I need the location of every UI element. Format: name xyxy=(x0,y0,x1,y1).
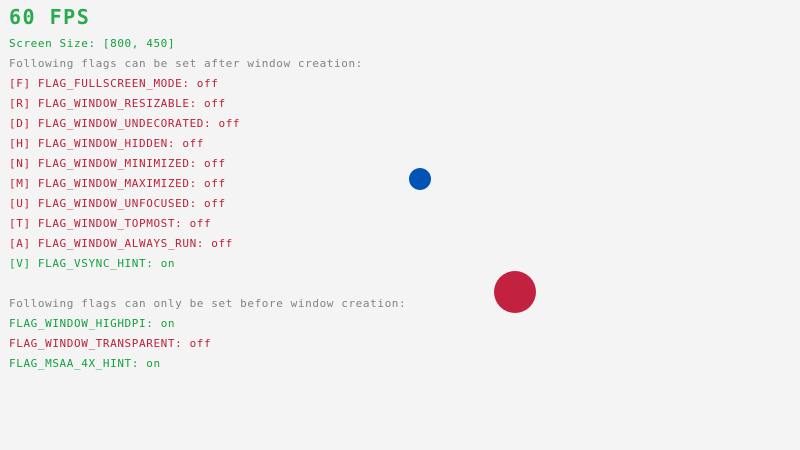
flag-name: FLAG_WINDOW_MINIMIZED: xyxy=(38,157,204,170)
section-note-1: Following flags can only be set before w… xyxy=(9,298,406,309)
flag-name: FLAG_WINDOW_UNFOCUSED: xyxy=(38,197,204,210)
section-note-0: Following flags can be set after window … xyxy=(9,58,363,69)
flag-value: off xyxy=(218,117,240,130)
screen-size-label: Screen Size: [800, 450] xyxy=(9,38,175,49)
flag-value: off xyxy=(190,217,212,230)
flag-name: FLAG_WINDOW_MAXIMIZED: xyxy=(38,177,204,190)
flag-name: FLAG_VSYNC_HINT: xyxy=(38,257,161,270)
flag-row-flag-fullscreen-mode[interactable]: [F] FLAG_FULLSCREEN_MODE: off xyxy=(9,78,218,89)
flag-name: FLAG_MSAA_4X_HINT: xyxy=(9,357,146,370)
flag-hotkey: [T] xyxy=(9,217,38,230)
flag-row-flag-msaa-4x-hint: FLAG_MSAA_4X_HINT: on xyxy=(9,358,161,369)
flag-value: on xyxy=(161,317,175,330)
flag-hotkey: [F] xyxy=(9,77,38,90)
flag-hotkey: [H] xyxy=(9,137,38,150)
flag-hotkey: [U] xyxy=(9,197,38,210)
flag-name: FLAG_WINDOW_HIGHDPI: xyxy=(9,317,161,330)
flag-value: off xyxy=(204,97,226,110)
flag-value: off xyxy=(182,137,204,150)
flag-row-flag-window-minimized[interactable]: [N] FLAG_WINDOW_MINIMIZED: off xyxy=(9,158,226,169)
flag-row-flag-window-transparent: FLAG_WINDOW_TRANSPARENT: off xyxy=(9,338,211,349)
flag-name: FLAG_WINDOW_TOPMOST: xyxy=(38,217,190,230)
flag-value: on xyxy=(161,257,175,270)
flag-value: off xyxy=(211,237,233,250)
flag-row-flag-window-always-run[interactable]: [A] FLAG_WINDOW_ALWAYS_RUN: off xyxy=(9,238,233,249)
flag-name: FLAG_WINDOW_UNDECORATED: xyxy=(38,117,219,130)
flag-hotkey: [R] xyxy=(9,97,38,110)
flag-name: FLAG_WINDOW_HIDDEN: xyxy=(38,137,182,150)
flag-value: off xyxy=(190,337,212,350)
flag-row-flag-window-highdpi: FLAG_WINDOW_HIGHDPI: on xyxy=(9,318,175,329)
flag-hotkey: [D] xyxy=(9,117,38,130)
flag-hotkey: [V] xyxy=(9,257,38,270)
flag-row-flag-window-undecorated[interactable]: [D] FLAG_WINDOW_UNDECORATED: off xyxy=(9,118,240,129)
flag-name: FLAG_FULLSCREEN_MODE: xyxy=(38,77,197,90)
flag-hotkey: [A] xyxy=(9,237,38,250)
fps-counter: 60 FPS xyxy=(9,7,90,27)
flag-value: on xyxy=(146,357,160,370)
raylib-window-canvas[interactable]: 60 FPS Screen Size: [800, 450] Following… xyxy=(0,0,800,450)
flag-row-flag-window-unfocused[interactable]: [U] FLAG_WINDOW_UNFOCUSED: off xyxy=(9,198,226,209)
flag-row-flag-vsync-hint[interactable]: [V] FLAG_VSYNC_HINT: on xyxy=(9,258,175,269)
flag-value: off xyxy=(204,177,226,190)
red-ball xyxy=(494,271,536,313)
flag-value: off xyxy=(204,197,226,210)
flag-name: FLAG_WINDOW_RESIZABLE: xyxy=(38,97,204,110)
flag-hotkey: [N] xyxy=(9,157,38,170)
flag-row-flag-window-resizable[interactable]: [R] FLAG_WINDOW_RESIZABLE: off xyxy=(9,98,226,109)
flag-hotkey: [M] xyxy=(9,177,38,190)
flag-value: off xyxy=(197,77,219,90)
flag-name: FLAG_WINDOW_ALWAYS_RUN: xyxy=(38,237,211,250)
flag-row-flag-window-hidden[interactable]: [H] FLAG_WINDOW_HIDDEN: off xyxy=(9,138,204,149)
flag-row-flag-window-maximized[interactable]: [M] FLAG_WINDOW_MAXIMIZED: off xyxy=(9,178,226,189)
blue-ball xyxy=(409,168,431,190)
flag-name: FLAG_WINDOW_TRANSPARENT: xyxy=(9,337,190,350)
flag-value: off xyxy=(204,157,226,170)
flag-row-flag-window-topmost[interactable]: [T] FLAG_WINDOW_TOPMOST: off xyxy=(9,218,211,229)
